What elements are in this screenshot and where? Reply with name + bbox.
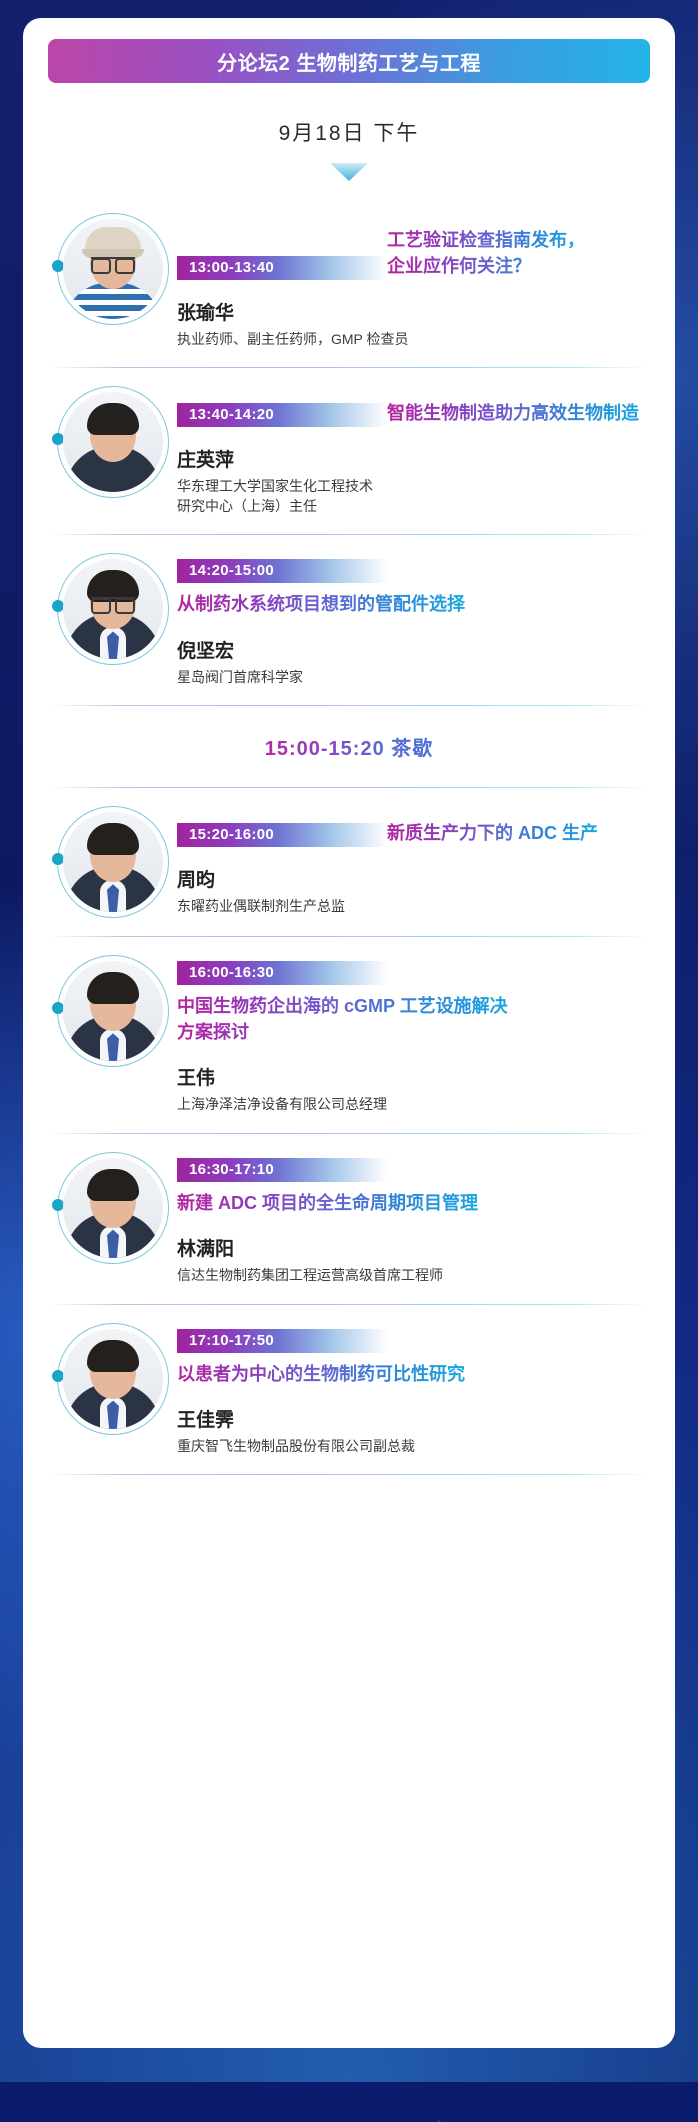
avatar-tie: [107, 1230, 119, 1258]
session-row[interactable]: 13:00-13:40工艺验证检查指南发布， 企业应作何关注？张瑜华执业药师、副…: [23, 195, 675, 367]
speaker-name: 王伟: [177, 1063, 649, 1090]
avatar-ring: [57, 213, 169, 325]
date-label: 9月18日 下午: [23, 117, 675, 147]
page-title: 分论坛2 生物制药工艺与工程: [217, 47, 481, 76]
session-title[interactable]: 新质生产力下的 ADC 生产: [387, 821, 598, 847]
avatar-tie: [107, 631, 119, 659]
forum-header-banner: 分论坛2 生物制药工艺与工程: [48, 39, 650, 83]
session-time-badge: 16:30-17:10: [177, 1158, 387, 1182]
avatar-glasses: [91, 257, 135, 271]
session-time-badge: 14:20-15:00: [177, 559, 387, 583]
session-list: 13:00-13:40工艺验证检查指南发布， 企业应作何关注？张瑜华执业药师、副…: [23, 195, 675, 1475]
session-info: 17:10-17:50以患者为中心的生物制药可比性研究王佳霁重庆智飞生物制品股份…: [177, 1323, 649, 1457]
avatar-column: [49, 213, 177, 325]
avatar-column: [49, 553, 177, 665]
avatar-hair: [87, 823, 139, 855]
avatar-tie: [107, 1033, 119, 1061]
speaker-role: 华东理工大学国家生化工程技术 研究中心（上海）主任: [177, 476, 649, 517]
avatar-hair: [87, 1340, 139, 1372]
speaker-role: 重庆智飞生物制品股份有限公司副总裁: [177, 1436, 649, 1456]
avatar-ring: [57, 553, 169, 665]
session-title[interactable]: 新建 ADC 项目的全生命周期项目管理: [177, 1191, 478, 1217]
session-row[interactable]: 15:20-16:00新质生产力下的 ADC 生产周昀东曜药业偶联制剂生产总监: [23, 788, 675, 936]
speaker-name: 张瑜华: [177, 298, 649, 325]
avatar: [63, 812, 163, 912]
session-info: 13:00-13:40工艺验证检查指南发布， 企业应作何关注？张瑜华执业药师、副…: [177, 213, 649, 349]
avatar-column: [49, 955, 177, 1067]
chevron-down-wrap: [23, 163, 675, 181]
chevron-down-icon: [330, 163, 368, 181]
speaker-role: 信达生物制药集团工程运营高级首席工程师: [177, 1265, 649, 1285]
session-row[interactable]: 16:30-17:10新建 ADC 项目的全生命周期项目管理林满阳信达生物制药集…: [23, 1134, 675, 1304]
speaker-name: 王佳霁: [177, 1405, 649, 1432]
avatar-ring: [57, 1152, 169, 1264]
session-time-badge: 15:20-16:00: [177, 823, 387, 847]
session-info: 15:20-16:00新质生产力下的 ADC 生产周昀东曜药业偶联制剂生产总监: [177, 806, 649, 916]
session-time-badge: 13:00-13:40: [177, 256, 387, 280]
avatar-tie: [107, 884, 119, 912]
speaker-name: 庄英萍: [177, 445, 649, 472]
session-info: 13:40-14:20智能生物制造助力高效生物制造庄英萍华东理工大学国家生化工程…: [177, 386, 649, 517]
avatar: [63, 1158, 163, 1258]
session-title[interactable]: 中国生物药企出海的 cGMP 工艺设施解决 方案探讨: [177, 994, 508, 1045]
session-title[interactable]: 以患者为中心的生物制药可比性研究: [177, 1362, 465, 1388]
tea-break-row: 15:00-15:20 茶歇: [23, 706, 675, 787]
avatar-ring: [57, 1323, 169, 1435]
session-info: 16:30-17:10新建 ADC 项目的全生命周期项目管理林满阳信达生物制药集…: [177, 1152, 649, 1286]
session-info: 14:20-15:00从制药水系统项目想到的管配件选择倪坚宏星岛阀门首席科学家: [177, 553, 649, 687]
avatar-hair: [87, 1169, 139, 1201]
avatar-hair: [87, 972, 139, 1004]
avatar-column: [49, 386, 177, 498]
session-row[interactable]: 17:10-17:50以患者为中心的生物制药可比性研究王佳霁重庆智飞生物制品股份…: [23, 1305, 675, 1475]
avatar-hair: [87, 403, 139, 435]
speaker-name: 林满阳: [177, 1234, 649, 1261]
session-title[interactable]: 智能生物制造助力高效生物制造: [387, 401, 639, 427]
session-row[interactable]: 14:20-15:00从制药水系统项目想到的管配件选择倪坚宏星岛阀门首席科学家: [23, 535, 675, 705]
avatar-column: [49, 806, 177, 918]
speaker-role: 执业药师、副主任药师，GMP 检查员: [177, 329, 649, 349]
avatar-ring: [57, 955, 169, 1067]
session-title[interactable]: 从制药水系统项目想到的管配件选择: [177, 592, 465, 618]
avatar-column: [49, 1323, 177, 1435]
speaker-name: 倪坚宏: [177, 636, 649, 663]
avatar: [63, 961, 163, 1061]
speaker-role: 上海净泽洁净设备有限公司总经理: [177, 1094, 649, 1114]
avatar-ring: [57, 806, 169, 918]
avatar-column: [49, 1152, 177, 1264]
avatar: [63, 219, 163, 319]
avatar-glasses: [91, 597, 135, 611]
speaker-name: 周昀: [177, 865, 649, 892]
session-row[interactable]: 13:40-14:20智能生物制造助力高效生物制造庄英萍华东理工大学国家生化工程…: [23, 368, 675, 535]
session-info: 16:00-16:30中国生物药企出海的 cGMP 工艺设施解决 方案探讨王伟上…: [177, 955, 649, 1114]
avatar: [63, 392, 163, 492]
avatar-tie: [107, 1401, 119, 1429]
avatar: [63, 1329, 163, 1429]
avatar-ring: [57, 386, 169, 498]
session-row[interactable]: 16:00-16:30中国生物药企出海的 cGMP 工艺设施解决 方案探讨王伟上…: [23, 937, 675, 1132]
session-time-badge: 16:00-16:30: [177, 961, 387, 985]
session-divider: [49, 1474, 649, 1475]
session-time-badge: 13:40-14:20: [177, 403, 387, 427]
session-title[interactable]: 工艺验证检查指南发布， 企业应作何关注？: [387, 228, 585, 279]
avatar: [63, 559, 163, 659]
session-time-badge: 17:10-17:50: [177, 1329, 387, 1353]
speaker-role: 东曜药业偶联制剂生产总监: [177, 896, 649, 916]
speaker-role: 星岛阀门首席科学家: [177, 667, 649, 687]
agenda-card: 分论坛2 生物制药工艺与工程 9月18日 下午 13:00-13:40工艺验证检…: [23, 18, 675, 2048]
tea-break-label: 15:00-15:20 茶歇: [265, 732, 434, 761]
